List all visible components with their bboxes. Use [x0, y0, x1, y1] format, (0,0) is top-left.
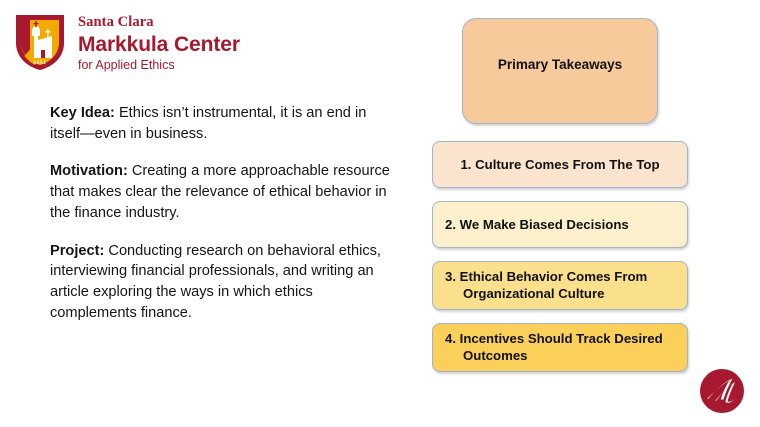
brand-line-markkula-center: Markkula Center — [78, 34, 240, 55]
shield-year-label: 1851 — [34, 60, 47, 66]
markkula-m-monogram-icon — [698, 367, 746, 415]
body-copy: Key Idea: Ethics isn’t instrumental, it … — [50, 103, 395, 323]
primary-takeaways-panel: Primary Takeaways 1. Culture Comes From … — [432, 18, 688, 372]
takeaway-label: 4. Incentives Should Track Desired Outco… — [445, 330, 675, 365]
list-item: 2. We Make Biased Decisions — [432, 201, 688, 248]
takeaway-label: 1. Culture Comes From The Top — [445, 156, 675, 173]
paragraph-label: Project: — [50, 243, 104, 259]
brand-lockup: 1851 Santa Clara Markkula Center for App… — [14, 12, 240, 72]
takeaway-label: 3. Ethical Behavior Comes From Organizat… — [445, 268, 675, 303]
brand-line-santa-clara: Santa Clara — [78, 15, 240, 30]
paragraph-motivation: Motivation: Creating a more approachable… — [50, 161, 395, 223]
paragraph-project: Project: Conducting research on behavior… — [50, 241, 395, 324]
brand-line-for-applied-ethics: for Applied Ethics — [78, 59, 240, 72]
santa-clara-mission-shield-icon: 1851 — [14, 12, 66, 72]
takeaway-label: 2. We Make Biased Decisions — [445, 216, 675, 233]
list-item: 1. Culture Comes From The Top — [432, 141, 688, 188]
list-item: 4. Incentives Should Track Desired Outco… — [432, 323, 688, 372]
paragraph-label: Motivation: — [50, 163, 128, 179]
list-item: 3. Ethical Behavior Comes From Organizat… — [432, 261, 688, 310]
primary-takeaways-header-box: Primary Takeaways — [462, 18, 658, 124]
brand-wordmark: Santa Clara Markkula Center for Applied … — [78, 12, 240, 71]
paragraph-label: Key Idea: — [50, 105, 115, 121]
paragraph-key-idea: Key Idea: Ethics isn’t instrumental, it … — [50, 103, 395, 144]
primary-takeaways-title: Primary Takeaways — [498, 57, 622, 72]
takeaway-list: 1. Culture Comes From The Top 2. We Make… — [432, 141, 688, 372]
